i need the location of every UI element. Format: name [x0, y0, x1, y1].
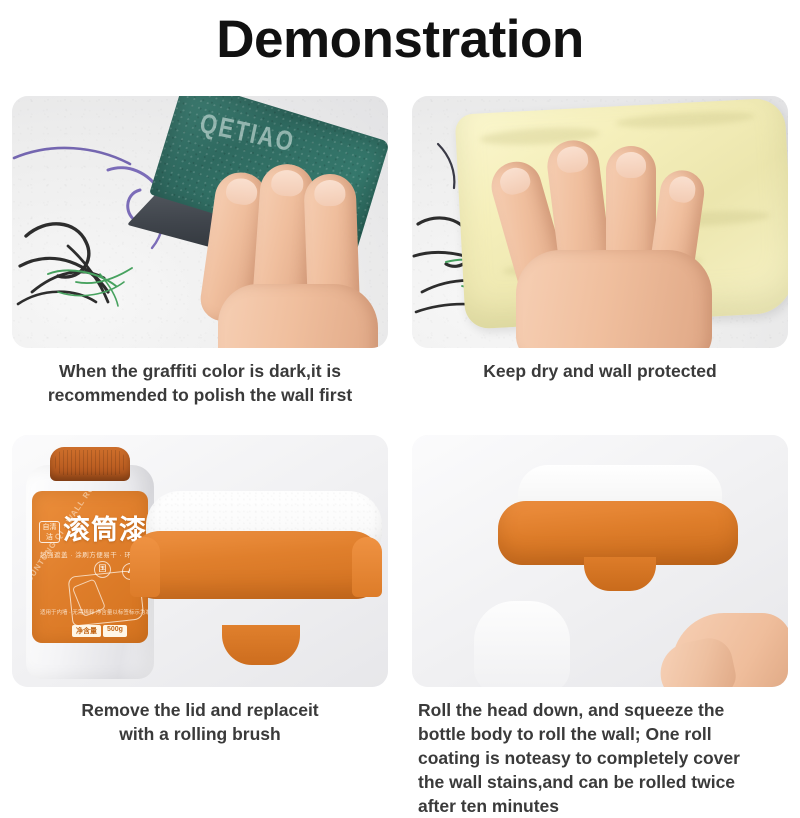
weight-label: 净含量 — [72, 625, 101, 637]
hand-holding-sanding-block — [200, 148, 388, 348]
step-4-photo-rolling-wall — [412, 435, 788, 687]
step-1: QETIAO When the graffi — [0, 96, 400, 407]
label-icon-certification: 国 — [94, 561, 111, 578]
caption-line: recommended to polish the wall first — [12, 383, 388, 407]
caption-line: after ten minutes — [418, 794, 788, 818]
step-3: 自清洁 滚筒漆 超强遮盖 · 涂刷方便易干 · 环保无异味 · 家用墙面修补 G… — [0, 435, 400, 818]
steps-row-1: QETIAO When the graffi — [0, 96, 800, 407]
roller-arm-right — [352, 537, 382, 597]
roller-brush-head — [130, 491, 382, 641]
caption-line: Keep dry and wall protected — [412, 359, 788, 383]
page-title: Demonstration — [0, 8, 800, 72]
step-4: Roll the head down, and squeeze the bott… — [400, 435, 800, 818]
demonstration-steps-grid: QETIAO When the graffi — [0, 96, 800, 818]
caption-line: Remove the lid and replaceit — [12, 698, 388, 722]
roller-brush-head — [498, 465, 738, 605]
fingernail — [616, 152, 646, 178]
step-2-caption: Keep dry and wall protected — [412, 359, 788, 383]
bottle-body-white — [474, 601, 570, 687]
steps-row-2: 自清洁 滚筒漆 超强遮盖 · 涂刷方便易干 · 环保无异味 · 家用墙面修补 G… — [0, 435, 800, 818]
label-weight-badge: 净含量 500g — [72, 625, 127, 637]
step-3-caption: Remove the lid and replaceit with a roll… — [12, 698, 388, 746]
caption-line: coating is noteasy to completely cover — [418, 746, 788, 770]
roller-arm-left — [498, 501, 526, 557]
step-3-photo-bottle-and-roller: 自清洁 滚筒漆 超强遮盖 · 涂刷方便易干 · 环保无异味 · 家用墙面修补 G… — [12, 435, 388, 687]
step-1-caption: When the graffiti color is dark,it is re… — [12, 359, 388, 407]
roller-arm-left — [130, 537, 160, 597]
palm — [218, 284, 378, 348]
roller-frame — [498, 501, 738, 565]
caption-line: When the graffiti color is dark,it is — [12, 359, 388, 383]
step-2: Keep dry and wall protected — [400, 96, 800, 407]
caption-line: Roll the head down, and squeeze the — [418, 698, 788, 722]
weight-value: 500g — [103, 625, 127, 637]
fingernail — [497, 164, 533, 197]
palm — [516, 250, 712, 348]
step-4-caption: Roll the head down, and squeeze the bott… — [412, 698, 788, 818]
caption-line: with a rolling brush — [12, 722, 388, 746]
fingernail — [225, 177, 260, 207]
fingernail — [270, 169, 304, 197]
caption-line: the wall stains,and can be rolled twice — [418, 770, 788, 794]
step-2-photo-wiping-wall — [412, 96, 788, 348]
fingernail — [314, 179, 346, 206]
roller-frame — [130, 531, 382, 599]
fingernail — [556, 145, 590, 175]
caption-line: bottle body to roll the wall; One roll — [418, 722, 788, 746]
hand-squeezing-bottle — [612, 585, 788, 687]
step-1-photo-sanding-wall: QETIAO — [12, 96, 388, 348]
bottle-cap — [50, 447, 130, 481]
fingernail — [668, 175, 698, 204]
hand-wiping-with-cloth — [504, 124, 754, 348]
roller-arm-right — [498, 557, 526, 613]
